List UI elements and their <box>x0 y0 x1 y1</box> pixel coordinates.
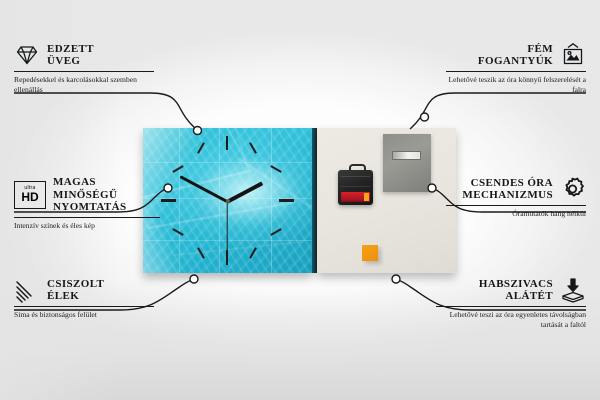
callout-description: Repedésekkel és karcolásokkal szemben el… <box>14 75 154 94</box>
clock-tick <box>249 247 257 258</box>
callout-description: Lehetővé teszik az óra könnyű felszerelé… <box>446 75 586 94</box>
clock-hour-hand <box>226 181 263 203</box>
gear-icon <box>560 176 586 202</box>
callout-rule <box>446 71 586 72</box>
clock-tick <box>172 165 183 173</box>
polished-edges-icon <box>14 277 40 303</box>
picture-hanger-icon <box>560 42 586 68</box>
callout-polished-edges: CSISZOLT ÉLEK Sima és biztonságos felüle… <box>14 277 154 320</box>
callout-rule <box>14 217 160 218</box>
callout-description: Sima és biztonságos felület <box>14 310 154 320</box>
clock-back-panel <box>317 128 456 273</box>
foam-pad <box>362 245 378 261</box>
clock-tick <box>270 228 281 236</box>
clock-tick <box>270 165 281 173</box>
callout-rule <box>14 306 154 307</box>
ultra-hd-icon: ultra HD <box>14 181 46 209</box>
clock-tick <box>197 247 205 258</box>
clock-pivot <box>226 199 230 203</box>
metal-hanger-plate <box>383 134 431 192</box>
clock-tick <box>197 142 205 153</box>
clock-tick <box>172 228 183 236</box>
callout-foam-pad: HABSZIVACS ALÁTÉT Lehetővé teszi az óra … <box>436 277 586 329</box>
callout-silent-mechanism: CSENDES ÓRA MECHANIZMUS Óramutatók hang … <box>446 176 586 219</box>
callout-title: MAGAS MINŐSÉGŰ NYOMTATÁS <box>53 176 160 214</box>
diamond-icon <box>14 42 40 68</box>
callout-title: HABSZIVACS ALÁTÉT <box>479 278 553 303</box>
hanger-slot <box>392 151 421 160</box>
callout-rule <box>446 205 586 206</box>
clock-tick <box>249 142 257 153</box>
ultra-hd-icon-large-text: HD <box>21 191 38 203</box>
callout-description: Óramutatók hang nélkül <box>446 209 586 219</box>
clock-face <box>143 128 312 273</box>
clock-minute-hand <box>179 175 227 203</box>
callout-rule <box>14 71 154 72</box>
glass-clock-front-panel <box>143 128 312 273</box>
callout-title: FÉM FOGANTYÚK <box>478 43 553 68</box>
quartz-movement <box>338 168 373 205</box>
infographic-canvas: EDZETT ÜVEG Repedésekkel és karcolásokka… <box>0 0 600 400</box>
callout-description: Lehetővé teszi az óra egyenletes távolsá… <box>436 310 586 329</box>
movement-body <box>338 170 373 205</box>
foam-pad-icon <box>560 277 586 303</box>
clock-tick <box>279 199 294 202</box>
clock-tick <box>161 199 176 202</box>
battery <box>341 192 370 202</box>
callout-title: CSISZOLT ÉLEK <box>47 278 104 303</box>
clock-tick <box>226 136 228 150</box>
callout-title: EDZETT ÜVEG <box>47 43 94 68</box>
callout-rule <box>436 306 586 307</box>
callout-metal-hangers: FÉM FOGANTYÚK Lehetővé teszik az óra kön… <box>446 42 586 94</box>
callout-title: CSENDES ÓRA MECHANIZMUS <box>462 177 553 202</box>
callout-description: Intenzív színek és éles kép <box>14 221 160 231</box>
product-photo <box>143 128 456 273</box>
callout-hd-print: ultra HD MAGAS MINŐSÉGŰ NYOMTATÁS Intenz… <box>14 176 160 230</box>
clock-second-hand <box>226 201 227 259</box>
callout-tempered-glass: EDZETT ÜVEG Repedésekkel és karcolásokka… <box>14 42 154 94</box>
